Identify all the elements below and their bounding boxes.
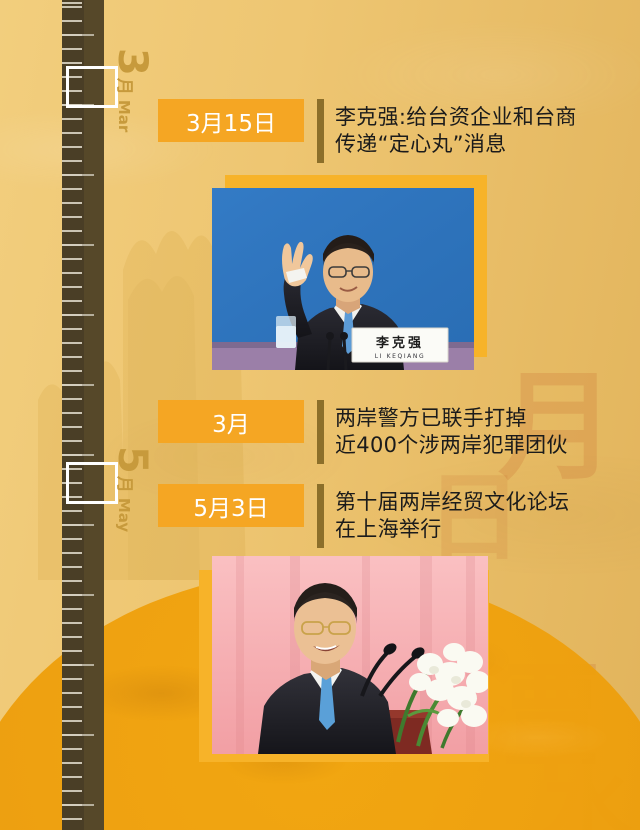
date-badge-2[interactable]: 3月 — [158, 400, 304, 443]
headline-2[interactable]: 两岸警方已联手打掉 近400个涉两岸犯罪团伙 — [335, 405, 568, 459]
photo-1[interactable]: 李克强 LI KEQIANG — [212, 188, 474, 370]
headline-accent-bar-2 — [317, 400, 324, 464]
month-number-mar: 3 — [112, 48, 152, 75]
timeline-entry-1[interactable]: 3月15日 李克强:给台资企业和台商 传递“定心丸”消息 — [158, 99, 577, 163]
headline-accent-bar-3 — [317, 484, 324, 548]
month-label-mar: 3 月 Mar — [112, 48, 152, 132]
date-badge-3[interactable]: 5月3日 — [158, 484, 304, 527]
poster-root: 月 潭 日 水 3 月 Mar 5 月 May 3月15日 李克强:给台资企业和… — [0, 0, 640, 830]
headline-1[interactable]: 李克强:给台资企业和台商 传递“定心丸”消息 — [335, 104, 577, 158]
timeline-entry-2[interactable]: 3月 两岸警方已联手打掉 近400个涉两岸犯罪团伙 — [158, 400, 568, 464]
headline-3[interactable]: 第十届两岸经贸文化论坛 在上海举行 — [335, 489, 569, 543]
date-badge-1[interactable]: 3月15日 — [158, 99, 304, 142]
photo-2[interactable] — [212, 556, 488, 754]
month-cn-mar: 月 — [115, 78, 132, 95]
svg-text:LI KEQIANG: LI KEQIANG — [375, 353, 425, 360]
headline-accent-bar-1 — [317, 99, 324, 163]
month-cn-may: 月 — [115, 476, 132, 493]
month-en-mar: Mar — [116, 100, 131, 132]
month-en-may: May — [116, 498, 131, 532]
ruler-major-ticks — [62, 0, 104, 830]
month-label-may: 5 月 May — [112, 446, 152, 532]
month-number-may: 5 — [112, 446, 152, 473]
timeline-entry-3[interactable]: 5月3日 第十届两岸经贸文化论坛 在上海举行 — [158, 484, 569, 548]
timeline-ruler — [62, 0, 104, 830]
svg-text:李克强: 李克强 — [375, 335, 424, 351]
